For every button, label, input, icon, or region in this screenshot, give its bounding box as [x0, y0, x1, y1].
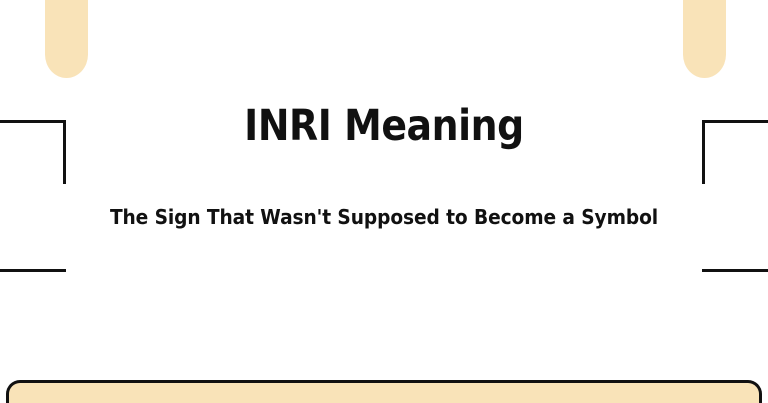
- bottom-callout-panel: [6, 380, 762, 403]
- bracket-bottom-right-horizontal: [702, 269, 768, 272]
- cream-pill-right-icon: [683, 0, 726, 78]
- slide-canvas: INRI Meaning The Sign That Wasn't Suppos…: [0, 0, 768, 403]
- page-title: INRI Meaning: [46, 100, 722, 152]
- cream-pill-left-icon: [45, 0, 88, 78]
- heading-block: INRI Meaning The Sign That Wasn't Suppos…: [0, 100, 768, 152]
- bottom-callout-text: [9, 383, 759, 389]
- page-subtitle: The Sign That Wasn't Supposed to Become …: [27, 204, 741, 230]
- bracket-bottom-left-horizontal: [0, 269, 66, 272]
